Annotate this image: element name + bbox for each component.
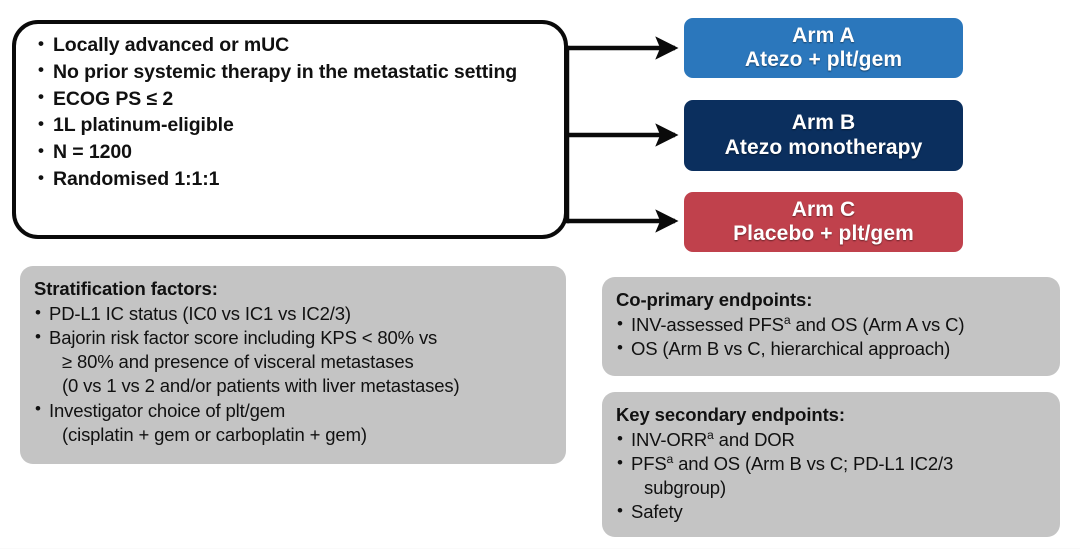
- eligibility-criterion: Randomised 1:1:1: [38, 167, 554, 193]
- arm-box-a: Arm A Atezo + plt/gem: [684, 18, 963, 78]
- stratification-heading: Stratification factors:: [34, 277, 552, 301]
- arm-b-name: Arm B: [792, 111, 856, 135]
- stratification-list: PD-L1 IC status (IC0 vs IC1 vs IC2/3)Baj…: [34, 302, 552, 447]
- coprimary-endpoint-item: OS (Arm B vs C, hierarchical approach): [616, 337, 1046, 361]
- arm-a-name: Arm A: [792, 24, 855, 48]
- secondary-endpoint-item: Safety: [616, 500, 1046, 524]
- stratification-item: Bajorin risk factor score including KPS …: [34, 326, 552, 350]
- coprimary-endpoints-list: INV-assessed PFSa and OS (Arm A vs C)OS …: [616, 313, 1046, 361]
- connector-group: [567, 46, 675, 224]
- arm-box-b: Arm B Atezo monotherapy: [684, 100, 963, 171]
- secondary-endpoint-item: PFSa and OS (Arm B vs C; PD-L1 IC2/3: [616, 452, 1046, 476]
- eligibility-criterion: N = 1200: [38, 140, 554, 166]
- footnote-marker: a: [707, 428, 714, 442]
- eligibility-criteria-list: Locally advanced or mUCNo prior systemic…: [38, 33, 554, 194]
- eligibility-criterion: 1L platinum-eligible: [38, 113, 554, 139]
- eligibility-criteria-box: Locally advanced or mUCNo prior systemic…: [12, 20, 568, 239]
- eligibility-criterion: Locally advanced or mUC: [38, 33, 554, 59]
- coprimary-heading: Co-primary endpoints:: [616, 288, 1046, 312]
- coprimary-endpoint-item: INV-assessed PFSa and OS (Arm A vs C): [616, 313, 1046, 337]
- stratification-factors-panel: Stratification factors: PD-L1 IC status …: [20, 266, 566, 464]
- arm-a-regimen: Atezo + plt/gem: [745, 48, 902, 72]
- stratification-item-continuation: (cisplatin + gem or carboplatin + gem): [34, 423, 552, 447]
- footnote-marker: a: [667, 452, 674, 466]
- stratification-item-continuation: (0 vs 1 vs 2 and/or patients with liver …: [34, 374, 552, 398]
- stratification-item: Investigator choice of plt/gem: [34, 399, 552, 423]
- secondary-endpoints-list: INV-ORRa and DORPFSa and OS (Arm B vs C;…: [616, 428, 1046, 525]
- arm-box-c: Arm C Placebo + plt/gem: [684, 192, 963, 252]
- secondary-endpoints-panel: Key secondary endpoints: INV-ORRa and DO…: [602, 392, 1060, 537]
- arm-c-name: Arm C: [792, 198, 856, 222]
- stratification-item-continuation: ≥ 80% and presence of visceral metastase…: [34, 350, 552, 374]
- arm-b-regimen: Atezo monotherapy: [725, 136, 923, 160]
- eligibility-criterion: No prior systemic therapy in the metasta…: [38, 60, 554, 86]
- footer-divider: [0, 548, 1080, 549]
- secondary-heading: Key secondary endpoints:: [616, 403, 1046, 427]
- coprimary-endpoints-panel: Co-primary endpoints: INV-assessed PFSa …: [602, 277, 1060, 376]
- secondary-endpoint-item: INV-ORRa and DOR: [616, 428, 1046, 452]
- eligibility-criterion: ECOG PS ≤ 2: [38, 87, 554, 113]
- arm-c-regimen: Placebo + plt/gem: [733, 222, 914, 246]
- stratification-item: PD-L1 IC status (IC0 vs IC1 vs IC2/3): [34, 302, 552, 326]
- secondary-endpoint-item-continuation: subgroup): [616, 476, 1046, 500]
- footnote-marker: a: [784, 313, 791, 327]
